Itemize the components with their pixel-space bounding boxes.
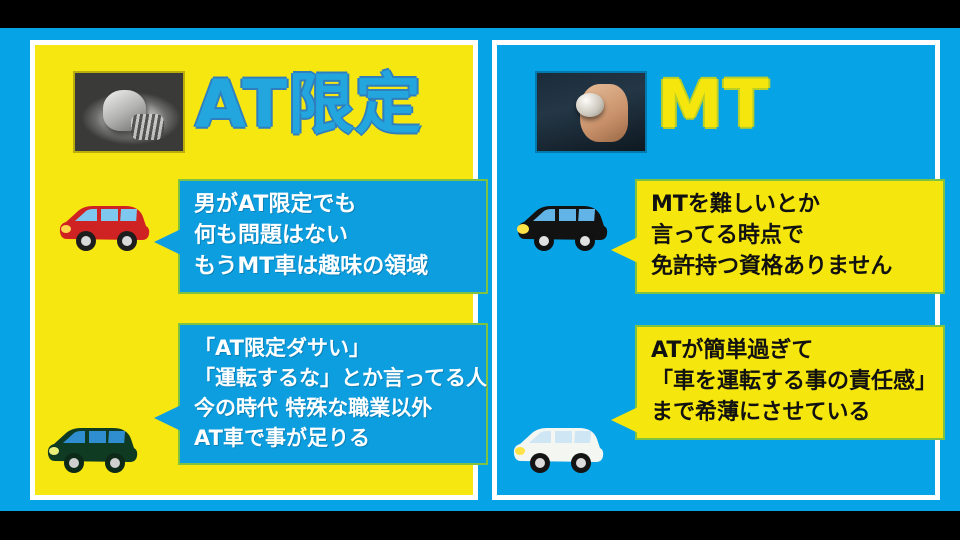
bubble-line: 「運転するな」とか言ってる人 bbox=[194, 363, 476, 393]
bubble-line: 男がAT限定でも bbox=[194, 189, 476, 220]
panel-mt-title: MT bbox=[657, 53, 770, 157]
bubble-at-1: 男がAT限定でも 何も問題はない もうMT車は趣味の領域 bbox=[178, 179, 488, 294]
bubble-at-2: 「AT限定ダサい」 「運転するな」とか言ってる人 今の時代 特殊な職業以外 AT… bbox=[178, 323, 488, 465]
at-shifter-photo-art bbox=[75, 73, 183, 151]
bubble-tail bbox=[154, 405, 181, 431]
bubble-line: MTを難しいとか bbox=[651, 189, 933, 220]
dark-green-car-icon bbox=[41, 417, 145, 483]
bubble-line: 「車を運転する事の責任感」 bbox=[651, 366, 933, 397]
red-car-icon bbox=[53, 195, 157, 261]
panel-mt: MT bbox=[492, 40, 940, 500]
mt-shifter-photo bbox=[535, 71, 647, 153]
bubble-line: ATが簡単過ぎて bbox=[651, 335, 933, 366]
bubble-line: 免許持つ資格ありません bbox=[651, 251, 933, 282]
bubble-tail bbox=[154, 229, 181, 255]
screenshot-stage: AT限定 bbox=[0, 0, 960, 540]
panel-at-header: AT限定 bbox=[35, 45, 473, 155]
bubble-line: まで希薄にさせている bbox=[651, 397, 933, 428]
bubble-tail bbox=[611, 407, 638, 433]
mt-shifter-photo-art bbox=[537, 73, 645, 151]
panel-mt-header: MT bbox=[497, 45, 935, 155]
bubble-line: 何も問題はない bbox=[194, 220, 476, 251]
bubble-mt-2: ATが簡単過ぎて 「車を運転する事の責任感」 まで希薄にさせている bbox=[635, 325, 945, 440]
bubble-tail bbox=[611, 237, 638, 263]
bubble-mt-1: MTを難しいとか 言ってる時点で 免許持つ資格ありません bbox=[635, 179, 945, 294]
bubble-line: 今の時代 特殊な職業以外 bbox=[194, 393, 476, 423]
panel-at-title: AT限定 bbox=[195, 53, 422, 157]
white-car-icon bbox=[507, 417, 611, 483]
bubble-line: 言ってる時点で bbox=[651, 220, 933, 251]
bubble-line: もうMT車は趣味の領域 bbox=[194, 251, 476, 282]
bubble-line: AT車で事が足りる bbox=[194, 423, 476, 453]
black-car-icon bbox=[511, 195, 615, 261]
broadcast-frame: AT限定 bbox=[0, 28, 960, 511]
at-shifter-photo bbox=[73, 71, 185, 153]
panel-at-limited: AT限定 bbox=[30, 40, 478, 500]
bubble-line: 「AT限定ダサい」 bbox=[194, 333, 476, 363]
